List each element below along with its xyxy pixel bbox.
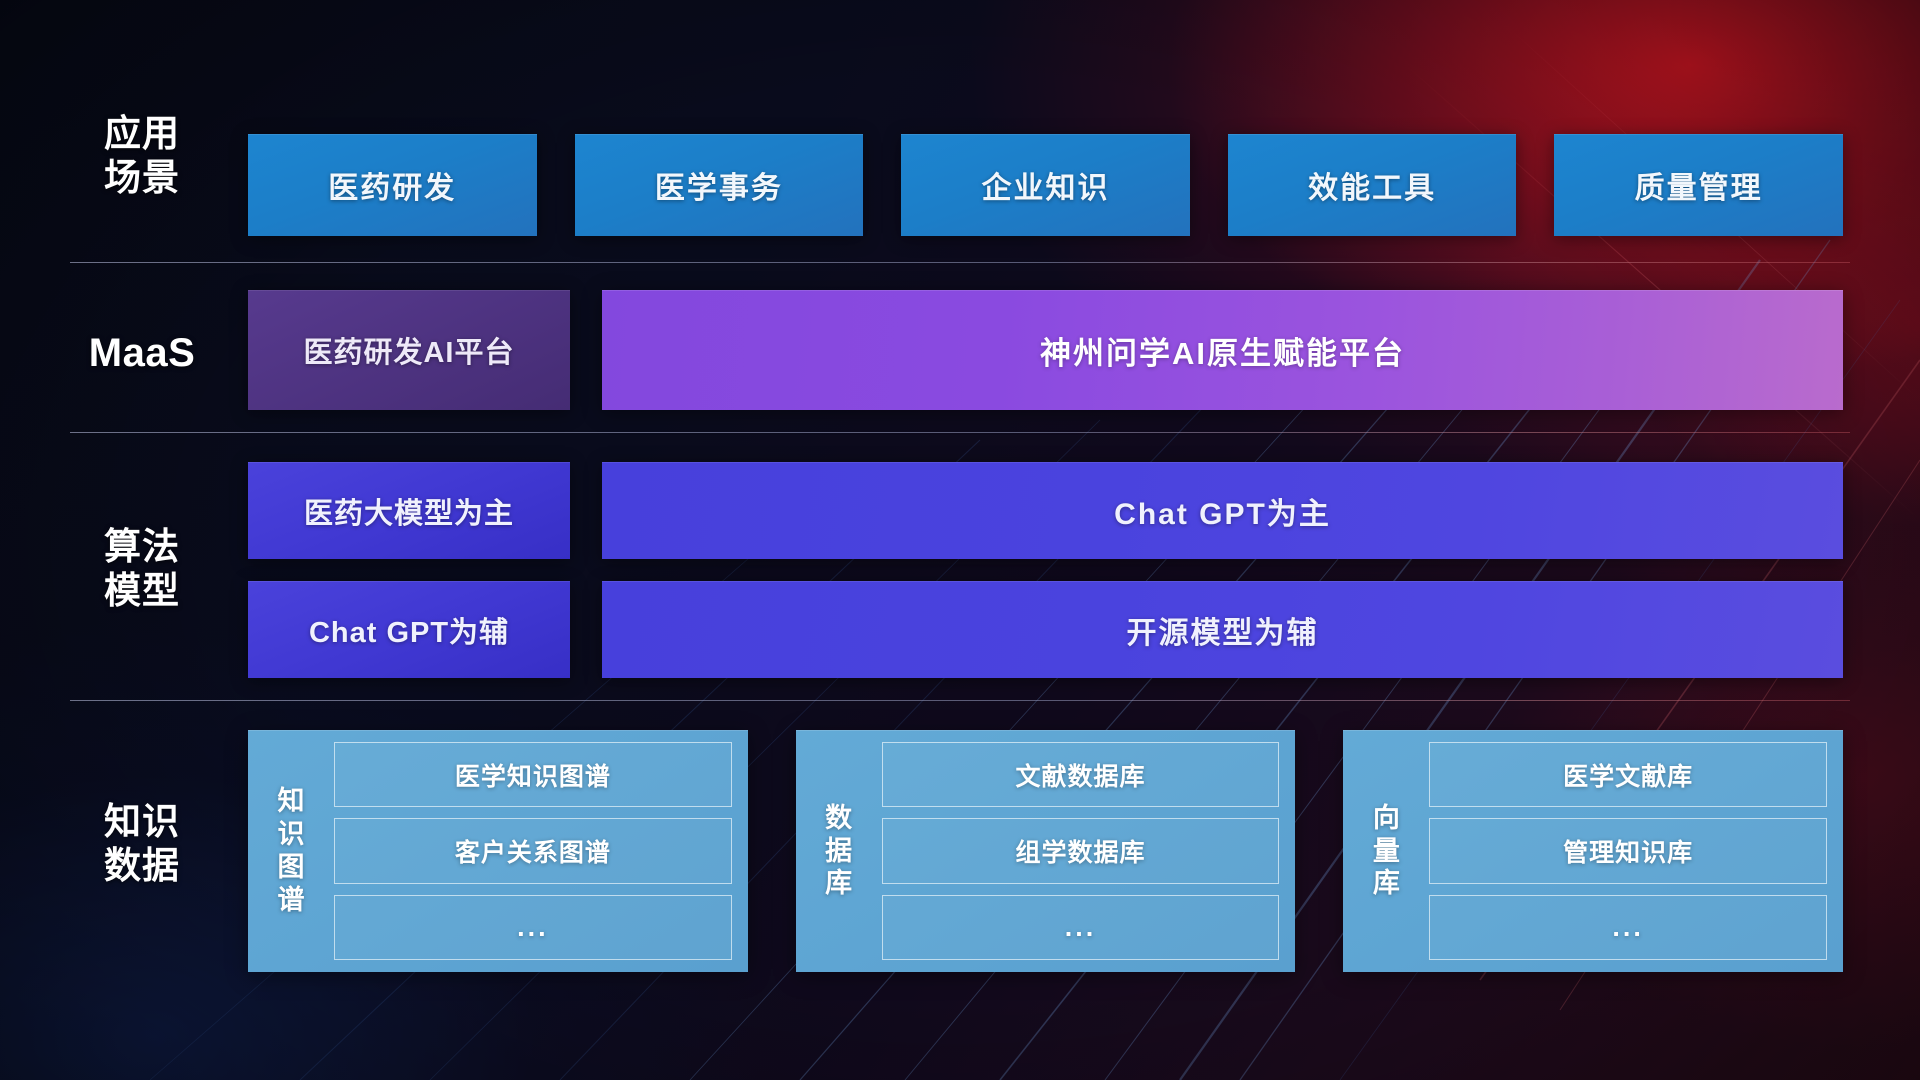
knowledge-item-more[interactable]: ...: [1429, 895, 1827, 960]
app-box-efficiency-tools[interactable]: 效能工具: [1228, 134, 1517, 236]
tier-knowledge-data: 知 识 图 谱 医学知识图谱 客户关系图谱 ... 数 据 库: [248, 730, 1843, 972]
vertical-label-char: 库: [825, 867, 852, 900]
row-label-maas: MaaS: [72, 330, 212, 377]
knowledge-item-more[interactable]: ...: [882, 895, 1280, 960]
knowledge-item-more[interactable]: ...: [334, 895, 732, 960]
knowledge-item-list: 医学文献库 管理知识库 ...: [1429, 742, 1827, 960]
algo-box-pharma-large-model-primary[interactable]: 医药大模型为主: [248, 462, 570, 559]
vertical-label-char: 据: [825, 835, 852, 868]
knowledge-panel-vertical-label: 知 识 图 谱: [258, 742, 324, 960]
row-label-line1: 算法: [72, 525, 212, 569]
knowledge-item-management-knowledge-store[interactable]: 管理知识库: [1429, 818, 1827, 883]
architecture-diagram-slide: 应用 场景 医药研发 医学事务 企业知识 效能工具 质量管理 MaaS 医药研发…: [0, 0, 1920, 1080]
app-box-medicine-rd[interactable]: 医药研发: [248, 134, 537, 236]
knowledge-item-list: 文献数据库 组学数据库 ...: [882, 742, 1280, 960]
knowledge-item-customer-relation-graph[interactable]: 客户关系图谱: [334, 818, 732, 883]
vertical-label-char: 数: [825, 802, 852, 835]
row-label-algorithm-models: 算法 模型: [72, 525, 212, 612]
app-box-medical-affairs[interactable]: 医学事务: [575, 134, 864, 236]
vertical-label-char: 量: [1373, 835, 1400, 868]
divider-line-3: [70, 700, 1850, 701]
vertical-label-char: 知: [278, 785, 305, 818]
knowledge-panel-vertical-label: 向 量 库: [1353, 742, 1419, 960]
maas-box-pharma-ai-platform[interactable]: 医药研发AI平台: [248, 290, 570, 410]
row-label-line1: 应用: [72, 112, 212, 156]
tier-maas: 医药研发AI平台 神州问学AI原生赋能平台: [248, 290, 1843, 410]
vertical-label-char: 谱: [278, 884, 305, 917]
algorithm-row-secondary: Chat GPT为辅 开源模型为辅: [248, 581, 1843, 678]
app-box-quality-management[interactable]: 质量管理: [1554, 134, 1843, 236]
row-label-line1: 知识: [72, 800, 212, 844]
algo-box-chatgpt-primary[interactable]: Chat GPT为主: [602, 462, 1843, 559]
vertical-label-char: 图: [278, 851, 305, 884]
knowledge-item-literature-database[interactable]: 文献数据库: [882, 742, 1280, 807]
vertical-label-char: 库: [1373, 867, 1400, 900]
vertical-label-char: 识: [278, 818, 305, 851]
knowledge-panel-vector-store[interactable]: 向 量 库 医学文献库 管理知识库 ...: [1343, 730, 1843, 972]
app-box-enterprise-knowledge[interactable]: 企业知识: [901, 134, 1190, 236]
divider-line-1: [70, 262, 1850, 263]
row-label-knowledge-data: 知识 数据: [72, 800, 212, 887]
row-label-line2: 数据: [72, 844, 212, 888]
knowledge-item-medical-literature-store[interactable]: 医学文献库: [1429, 742, 1827, 807]
algo-box-opensource-model-secondary[interactable]: 开源模型为辅: [602, 581, 1843, 678]
divider-line-2: [70, 432, 1850, 433]
maas-box-shenzhou-wenxue-platform[interactable]: 神州问学AI原生赋能平台: [602, 290, 1843, 410]
row-label-line2: 场景: [72, 156, 212, 200]
algorithm-row-primary: 医药大模型为主 Chat GPT为主: [248, 462, 1843, 559]
knowledge-item-omics-database[interactable]: 组学数据库: [882, 818, 1280, 883]
knowledge-panel-database[interactable]: 数 据 库 文献数据库 组学数据库 ...: [796, 730, 1296, 972]
knowledge-panel-vertical-label: 数 据 库: [806, 742, 872, 960]
tier-application-scenarios: 医药研发 医学事务 企业知识 效能工具 质量管理: [248, 134, 1843, 236]
row-label-line2: 模型: [72, 569, 212, 613]
tier-algorithm-models: 医药大模型为主 Chat GPT为主 Chat GPT为辅 开源模型为辅: [248, 462, 1843, 678]
vertical-label-char: 向: [1373, 802, 1400, 835]
knowledge-item-medical-knowledge-graph[interactable]: 医学知识图谱: [334, 742, 732, 807]
diagram-content: 应用 场景 医药研发 医学事务 企业知识 效能工具 质量管理 MaaS 医药研发…: [0, 0, 1920, 1080]
algo-box-chatgpt-secondary[interactable]: Chat GPT为辅: [248, 581, 570, 678]
knowledge-panel-knowledge-graph[interactable]: 知 识 图 谱 医学知识图谱 客户关系图谱 ...: [248, 730, 748, 972]
row-label-application-scenarios: 应用 场景: [72, 112, 212, 199]
knowledge-item-list: 医学知识图谱 客户关系图谱 ...: [334, 742, 732, 960]
